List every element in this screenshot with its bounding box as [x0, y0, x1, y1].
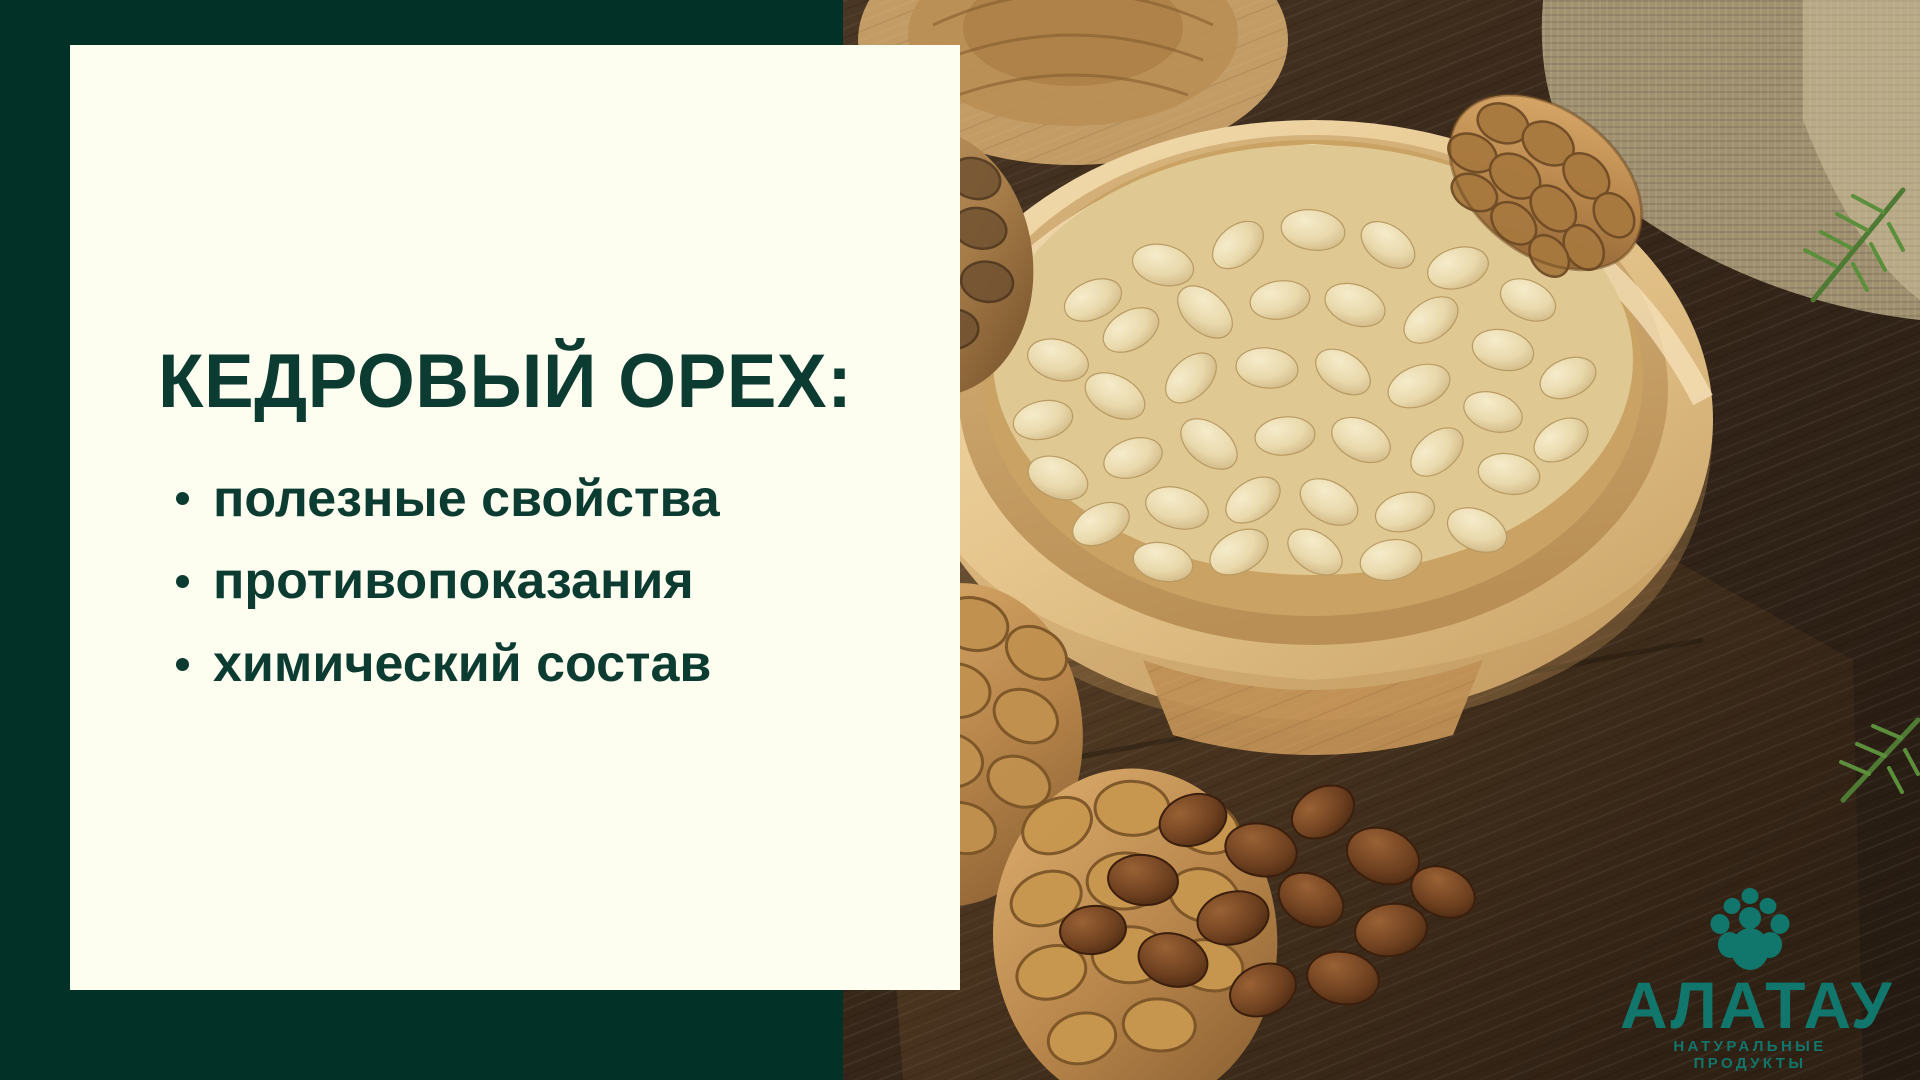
list-item: противопоказания	[176, 554, 900, 609]
content-card: КЕДРОВЫЙ ОРЕХ: полезные свойства противо…	[70, 45, 960, 990]
brand-tagline: НАТУРАЛЬНЫЕ ПРОДУКТЫ	[1620, 1038, 1880, 1072]
page-title: КЕДРОВЫЙ ОРЕХ:	[158, 344, 885, 420]
list-item: химический состав	[176, 637, 900, 692]
list-item-label: полезные свойства	[213, 472, 720, 527]
feature-list: полезные свойства противопоказания химич…	[176, 472, 900, 692]
pine-cone-icon	[1704, 887, 1796, 973]
list-item-label: противопоказания	[213, 554, 694, 609]
list-item: полезные свойства	[176, 472, 900, 527]
slide-root: КЕДРОВЫЙ ОРЕХ: полезные свойства противо…	[0, 0, 1920, 1080]
brand-logo: АЛАТАУ НАТУРАЛЬНЫЕ ПРОДУКТЫ	[1620, 887, 1880, 1072]
list-item-label: химический состав	[213, 637, 711, 692]
brand-name: АЛАТАУ	[1620, 975, 1880, 1036]
bullet-dot-icon	[176, 658, 189, 671]
bullet-dot-icon	[176, 492, 189, 505]
bullet-dot-icon	[176, 575, 189, 588]
content-card-inner: КЕДРОВЫЙ ОРЕХ: полезные свойства противо…	[70, 45, 960, 990]
